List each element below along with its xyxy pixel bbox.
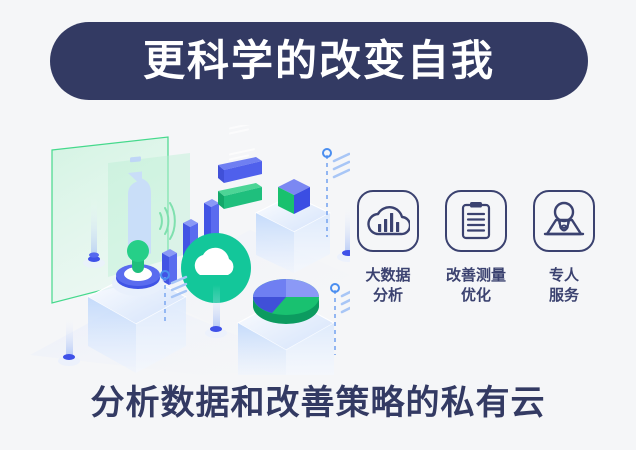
header-banner: 更科学的改变自我: [50, 22, 588, 100]
cloud-bar-chart-icon: [357, 190, 419, 252]
feature-label: 大数据 分析: [365, 266, 410, 307]
specialist-person-icon: [533, 190, 595, 252]
clipboard-icon: [445, 190, 507, 252]
feature-label: 改善测量 优化: [446, 266, 506, 307]
page-title: 更科学的改变自我: [143, 40, 495, 82]
feature-item-specialist-service[interactable]: 专人 服务: [528, 190, 600, 307]
feature-label: 专人 服务: [549, 266, 579, 307]
feature-list: 大数据 分析 改善测量 优化: [352, 190, 600, 307]
pie-chart-3d: [253, 279, 319, 324]
footer-tagline: 分析数据和改善策略的私有云: [0, 385, 636, 422]
tag-label-blue: [218, 125, 262, 183]
pin-marker: [337, 203, 350, 262]
feature-item-improvement-measurement[interactable]: 改善测量 优化: [440, 190, 512, 307]
isometric-data-platform-illustration: [20, 125, 350, 375]
feature-item-big-data-analysis[interactable]: 大数据 分析: [352, 190, 424, 307]
poster-canvas: 更科学的改变自我: [0, 0, 636, 450]
